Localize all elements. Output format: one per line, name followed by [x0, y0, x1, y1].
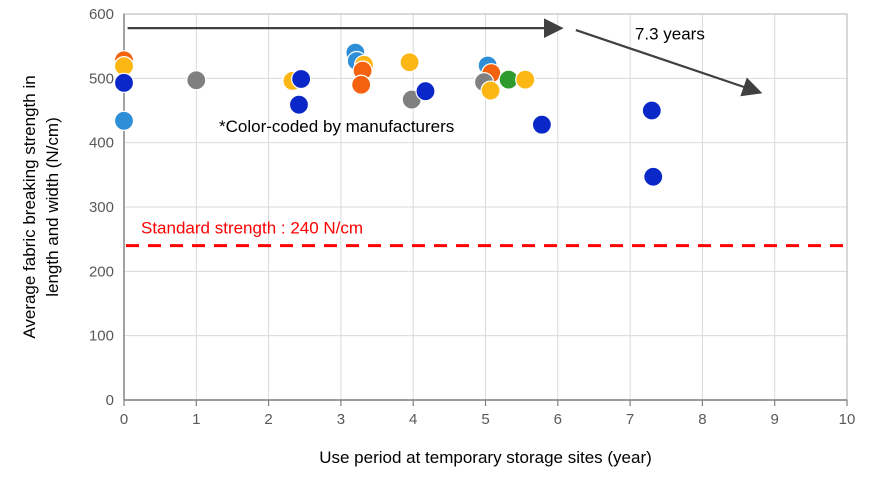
data-point-13 [400, 53, 419, 72]
y-tick-label-100: 100 [89, 328, 114, 345]
data-point-22 [532, 115, 551, 134]
data-point-15 [416, 82, 435, 101]
scatter-chart: 0100200300400500600012345678910Use perio… [0, 0, 880, 480]
data-point-2 [115, 73, 134, 92]
x-tick-label-4: 4 [409, 411, 417, 428]
x-tick-label-2: 2 [264, 411, 272, 428]
y-tick-label-200: 200 [89, 263, 114, 280]
x-tick-label-6: 6 [554, 411, 562, 428]
x-tick-label-9: 9 [771, 411, 779, 428]
y-tick-label-0: 0 [106, 392, 114, 409]
data-point-12 [352, 75, 371, 94]
x-tick-label-3: 3 [337, 411, 345, 428]
data-point-23 [642, 101, 661, 120]
data-point-3 [115, 111, 134, 130]
data-point-4 [187, 71, 206, 90]
x-tick-label-1: 1 [192, 411, 200, 428]
x-tick-label-7: 7 [626, 411, 634, 428]
y-tick-label-300: 300 [89, 199, 114, 216]
threshold-label: Standard strength : 240 N/cm [141, 219, 363, 238]
y-tick-label-400: 400 [89, 135, 114, 152]
data-point-21 [516, 70, 535, 89]
color-code-note: *Color-coded by manufacturers [219, 117, 454, 136]
chart-canvas: 0100200300400500600012345678910Use perio… [0, 0, 880, 480]
y-tick-label-600: 600 [89, 6, 114, 23]
y-tick-label-500: 500 [89, 70, 114, 87]
data-point-6 [292, 69, 311, 88]
data-point-24 [644, 167, 663, 186]
x-axis-title: Use period at temporary storage sites (y… [319, 448, 652, 467]
y-axis-title-line2: length and width (N/cm) [43, 117, 62, 297]
x-tick-label-5: 5 [481, 411, 489, 428]
data-point-7 [289, 95, 308, 114]
x-tick-label-0: 0 [120, 411, 128, 428]
y-axis-title-line1: Average fabric breaking strength in [20, 75, 39, 338]
data-point-19 [481, 81, 500, 100]
x-tick-label-10: 10 [839, 411, 856, 428]
x-tick-label-8: 8 [698, 411, 706, 428]
service-life-arrow-label: 7.3 years [635, 25, 705, 44]
